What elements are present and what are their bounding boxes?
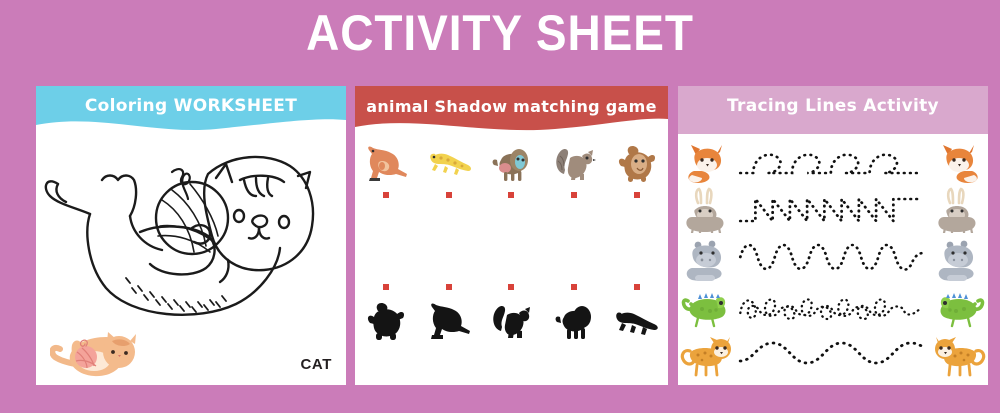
gecko-shadow-icon bbox=[611, 297, 663, 345]
match-item-orangutan[interactable] bbox=[605, 138, 668, 198]
cat-coloring-outline bbox=[40, 136, 342, 336]
match-dot[interactable] bbox=[508, 284, 514, 290]
match-item-kangaroo[interactable] bbox=[355, 138, 418, 198]
tracing-row-antelope bbox=[678, 186, 988, 234]
matching-animal-row bbox=[355, 138, 668, 198]
coloring-header: Coloring WORKSHEET bbox=[36, 86, 346, 134]
hippo-icon-left bbox=[678, 235, 736, 281]
coloring-body: CAT bbox=[36, 134, 346, 385]
trace-path-wave bbox=[736, 235, 930, 281]
matching-shadow-row bbox=[355, 284, 668, 345]
iguana-icon-left bbox=[678, 283, 736, 329]
shadow-item-baboon[interactable] bbox=[543, 284, 606, 345]
fox-icon-left bbox=[678, 139, 736, 185]
trace-path-loops bbox=[736, 139, 930, 185]
squirrel-shadow-icon bbox=[485, 297, 537, 345]
trace-path-spiral-loops bbox=[736, 283, 930, 329]
antelope-icon-left bbox=[678, 187, 736, 233]
iguana-icon-right bbox=[930, 283, 988, 329]
match-item-baboon[interactable] bbox=[480, 138, 543, 198]
matching-body bbox=[355, 134, 668, 385]
orangutan-icon bbox=[611, 138, 663, 186]
match-dot[interactable] bbox=[571, 284, 577, 290]
match-dot[interactable] bbox=[634, 192, 640, 198]
shadow-item-orangutan[interactable] bbox=[355, 284, 418, 345]
shadow-item-kangaroo[interactable] bbox=[418, 284, 481, 345]
shadow-item-squirrel[interactable] bbox=[480, 284, 543, 345]
antelope-icon-right bbox=[930, 187, 988, 233]
tracing-row-leopard bbox=[678, 330, 988, 378]
match-dot[interactable] bbox=[383, 284, 389, 290]
coloring-header-label: Coloring WORKSHEET bbox=[36, 86, 346, 126]
coloring-word-label: CAT bbox=[300, 356, 332, 373]
trace-path-soft-wave bbox=[736, 331, 930, 377]
match-dot[interactable] bbox=[383, 192, 389, 198]
tracing-row-hippo bbox=[678, 234, 988, 282]
match-dot[interactable] bbox=[508, 192, 514, 198]
matching-header-label: animal Shadow matching game bbox=[355, 86, 668, 126]
kangaroo-icon bbox=[360, 138, 412, 186]
trace-path-zigzag bbox=[736, 187, 930, 233]
tracing-header-label: Tracing Lines Activity bbox=[678, 86, 988, 126]
match-dot[interactable] bbox=[634, 284, 640, 290]
squirrel-icon bbox=[548, 138, 600, 186]
baboon-shadow-icon bbox=[548, 297, 600, 345]
match-item-squirrel[interactable] bbox=[543, 138, 606, 198]
kangaroo-shadow-icon bbox=[423, 297, 475, 345]
activity-sheet-page: ACTIVITY SHEET Coloring WORKSHEET bbox=[0, 0, 1000, 413]
tracing-header: Tracing Lines Activity bbox=[678, 86, 988, 134]
match-dot[interactable] bbox=[571, 192, 577, 198]
panel-tracing-lines: Tracing Lines Activity bbox=[678, 86, 988, 385]
cat-color-reference bbox=[50, 319, 140, 381]
tracing-row-fox bbox=[678, 138, 988, 186]
leopard-icon-right bbox=[930, 331, 988, 377]
match-dot[interactable] bbox=[446, 284, 452, 290]
tracing-body bbox=[678, 134, 988, 385]
leopard-icon-left bbox=[678, 331, 736, 377]
page-title: ACTIVITY SHEET bbox=[40, 4, 960, 62]
tracing-row-iguana bbox=[678, 282, 988, 330]
fox-icon-right bbox=[930, 139, 988, 185]
panel-coloring-worksheet: Coloring WORKSHEET bbox=[36, 86, 346, 385]
match-dot[interactable] bbox=[446, 192, 452, 198]
matching-header: animal Shadow matching game bbox=[355, 86, 668, 134]
gecko-icon bbox=[423, 138, 475, 186]
hippo-icon-right bbox=[930, 235, 988, 281]
match-item-gecko[interactable] bbox=[418, 138, 481, 198]
shadow-item-gecko[interactable] bbox=[605, 284, 668, 345]
orangutan-shadow-icon bbox=[360, 297, 412, 345]
panel-shadow-matching: animal Shadow matching game bbox=[355, 86, 668, 385]
baboon-icon bbox=[485, 138, 537, 186]
